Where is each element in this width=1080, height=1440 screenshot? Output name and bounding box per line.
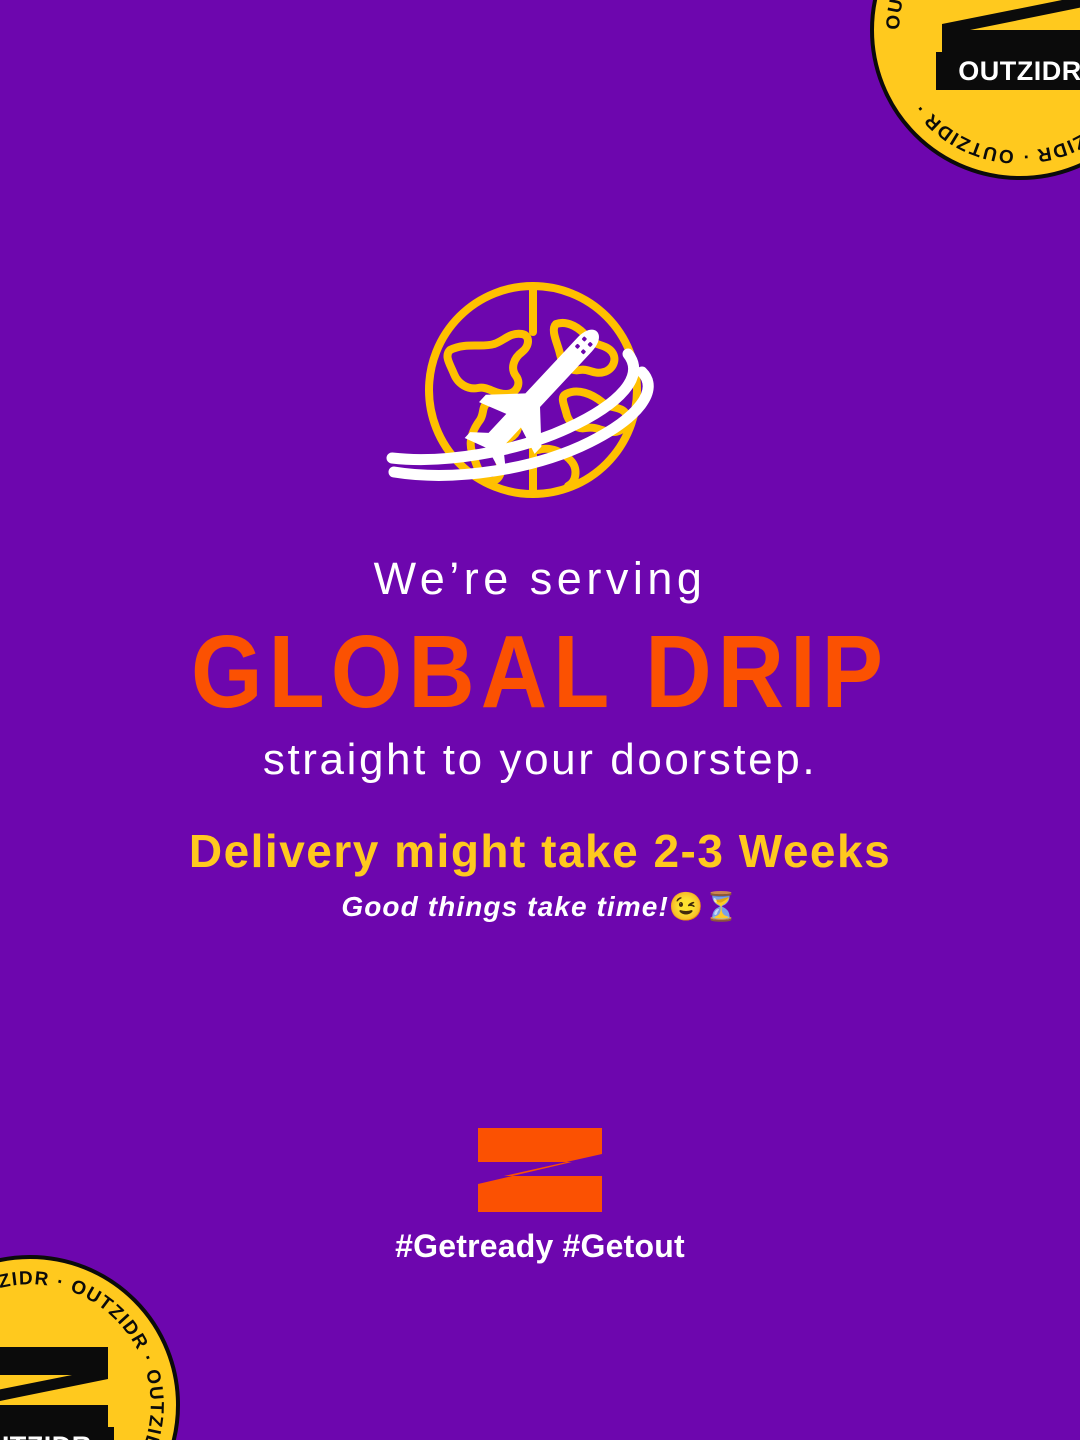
brand-z-logo-icon	[476, 1126, 604, 1214]
badge-wordmark: OUTZIDR	[936, 52, 1080, 90]
globe-airplane-icon	[0, 272, 1080, 512]
wink-face-emoji: 😉	[669, 891, 704, 922]
badge-logo-core: OUTZIDR	[0, 1345, 114, 1440]
badge-z-icon	[936, 0, 1080, 56]
headline-block: We’re serving GLOBAL DRIP straight to yo…	[0, 548, 1080, 790]
badge-wordmark: OUTZIDR	[0, 1427, 114, 1440]
badge-logo-core: OUTZIDR	[936, 0, 1080, 90]
headline-subline: straight to your doorstep.	[0, 730, 1080, 790]
badge-z-icon	[0, 1345, 114, 1431]
footer-logo-lockup: #Getready #Getout	[0, 1126, 1080, 1265]
delivery-subtext-row: Good things take time!😉⏳	[0, 886, 1080, 928]
delivery-notice-block: Delivery might take 2-3 Weeks Good thing…	[0, 822, 1080, 928]
brand-badge-top-right: OUTZIDR · OUTZIDR · OUTZIDR · OUTZIDR · …	[870, 0, 1080, 180]
delivery-headline: Delivery might take 2-3 Weeks	[0, 822, 1080, 880]
footer-hashtags: #Getready #Getout	[0, 1228, 1080, 1265]
brand-badge-bottom-left: OUTZIDR · OUTZIDR · OUTZIDR · OUTZIDR · …	[0, 1255, 180, 1440]
delivery-subtext: Good things take time!	[341, 891, 669, 922]
promo-poster: OUTZIDR · OUTZIDR · OUTZIDR · OUTZIDR · …	[0, 0, 1080, 1440]
headline-eyebrow: We’re serving	[0, 548, 1080, 610]
headline-main: GLOBAL DRIP	[0, 614, 1080, 730]
hourglass-emoji: ⏳	[704, 891, 739, 922]
